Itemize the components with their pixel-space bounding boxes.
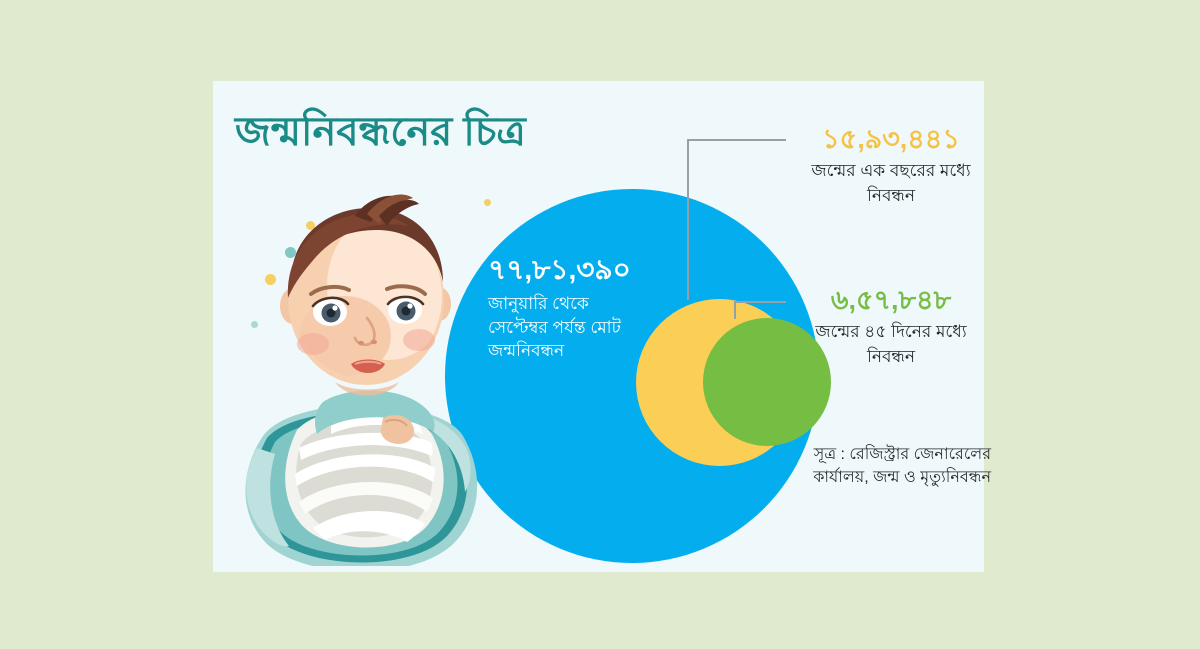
leader-line-within-year-horizontal: [687, 139, 786, 141]
within-year-value: ১৫,৯৩,৪৪১: [791, 123, 991, 155]
baby-nostril-left: [358, 341, 364, 345]
within-45-days-value: ৬,৫৭,৮৪৮: [791, 284, 991, 316]
baby-nostril-right: [371, 340, 377, 344]
leader-line-within-45-days-vertical: [734, 302, 736, 319]
within-year-caption: জন্মের এক বছরের মধ্যে নিবন্ধন: [791, 159, 991, 207]
within-45-days-caption: জন্মের ৪৫ দিনের মধ্যে নিবন্ধন: [791, 320, 991, 368]
baby-eye-glint-left: [332, 305, 337, 310]
total-registrations-caption: জানুয়ারি থেকে সেপ্টেম্বর পর্যন্ত মোট জন…: [488, 292, 648, 362]
leader-line-within-year-vertical: [687, 140, 689, 300]
baby-blush-right: [403, 329, 435, 351]
baby-blush-left: [297, 333, 329, 355]
total-registrations-label: ৭৭,৮১,৩৯০ জানুয়ারি থেকে সেপ্টেম্বর পর্য…: [488, 254, 648, 363]
baby-eye-glint-right: [407, 303, 412, 308]
total-registrations-value: ৭৭,৮১,৩৯০: [488, 254, 648, 286]
source-note: সূত্র : রেজিস্ট্রার জেনারেলের কার্যালয়,…: [791, 443, 991, 489]
infographic-stage: জন্মনিবন্ধনের চিত্র: [0, 0, 1200, 649]
swaddled-baby-illustration: [227, 186, 491, 566]
page-title: জন্মনিবন্ধনের চিত্র: [235, 109, 695, 155]
callout-within-45-days: ৬,৫৭,৮৪৮ জন্মের ৪৫ দিনের মধ্যে নিবন্ধন: [791, 284, 991, 369]
leader-line-within-45-days-horizontal: [734, 301, 786, 303]
infographic-card: জন্মনিবন্ধনের চিত্র: [213, 81, 984, 572]
callout-within-year: ১৫,৯৩,৪৪১ জন্মের এক বছরের মধ্যে নিবন্ধন: [791, 123, 991, 208]
